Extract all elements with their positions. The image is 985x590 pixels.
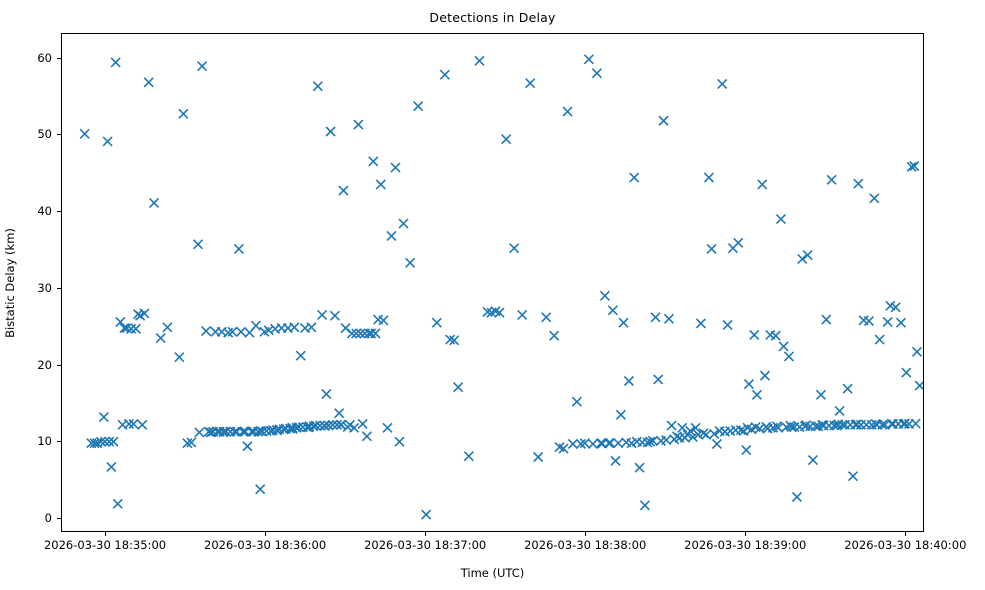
scatter-point bbox=[510, 244, 519, 253]
scatter-point bbox=[915, 381, 923, 390]
scatter-point bbox=[202, 327, 211, 336]
scatter-point bbox=[798, 254, 807, 263]
y-tick-label: 40 bbox=[0, 204, 52, 218]
x-tick-mark bbox=[585, 532, 586, 536]
scatter-point bbox=[608, 306, 617, 315]
scatter-point bbox=[611, 456, 620, 465]
scatter-point bbox=[129, 419, 138, 428]
scatter-point bbox=[379, 316, 388, 325]
scatter-point bbox=[354, 120, 363, 129]
scatter-point bbox=[422, 510, 431, 519]
scatter-point bbox=[864, 317, 873, 326]
scatter-point bbox=[464, 452, 473, 461]
scatter-point bbox=[568, 439, 577, 448]
scatter-point bbox=[750, 330, 759, 339]
scatter-point bbox=[326, 127, 335, 136]
scatter-point bbox=[350, 423, 359, 432]
x-tick-mark bbox=[905, 532, 906, 536]
scatter-point bbox=[848, 472, 857, 481]
scatter-point bbox=[651, 313, 660, 322]
scatter-point bbox=[827, 175, 836, 184]
scatter-point bbox=[113, 499, 122, 508]
scatter-point bbox=[179, 109, 188, 118]
scatter-point bbox=[896, 318, 905, 327]
scatter-point bbox=[358, 419, 367, 428]
scatter-point bbox=[803, 251, 812, 260]
scatter-point bbox=[156, 334, 165, 343]
y-tick-label: 20 bbox=[0, 358, 52, 372]
scatter-point bbox=[758, 180, 767, 189]
scatter-point bbox=[318, 310, 327, 319]
x-tick-label: 2026-03-30 18:39:00 bbox=[684, 538, 806, 552]
scatter-points-layer bbox=[62, 34, 923, 531]
scatter-point bbox=[678, 423, 687, 432]
scatter-point bbox=[518, 310, 527, 319]
scatter-point bbox=[475, 56, 484, 65]
scatter-point bbox=[251, 321, 260, 330]
scatter-point bbox=[912, 347, 921, 356]
scatter-point bbox=[744, 380, 753, 389]
scatter-point bbox=[659, 116, 668, 125]
x-tick-label: 2026-03-30 18:35:00 bbox=[44, 538, 166, 552]
scatter-point bbox=[131, 324, 140, 333]
y-tick-label: 60 bbox=[0, 51, 52, 65]
scatter-point bbox=[887, 419, 896, 428]
scatter-point bbox=[163, 323, 172, 332]
scatter-point bbox=[234, 244, 243, 253]
scatter-point bbox=[760, 371, 769, 380]
scatter-point bbox=[150, 198, 159, 207]
scatter-point bbox=[369, 157, 378, 166]
scatter-point bbox=[391, 163, 400, 172]
scatter-point bbox=[80, 129, 89, 138]
scatter-point bbox=[107, 462, 116, 471]
scatter-point bbox=[307, 323, 316, 332]
scatter-point bbox=[339, 186, 348, 195]
scatter-point bbox=[502, 135, 511, 144]
x-tick-label: 2026-03-30 18:38:00 bbox=[524, 538, 646, 552]
scatter-point bbox=[550, 331, 559, 340]
scatter-point bbox=[883, 317, 892, 326]
scatter-point bbox=[243, 442, 252, 451]
scatter-point bbox=[696, 319, 705, 328]
x-tick-mark bbox=[425, 532, 426, 536]
scatter-point bbox=[240, 427, 249, 436]
chart-title: Detections in Delay bbox=[0, 10, 985, 25]
scatter-point bbox=[843, 384, 852, 393]
y-axis-label: Bistatic Delay (km) bbox=[3, 228, 17, 338]
scatter-point bbox=[124, 419, 133, 428]
scatter-point bbox=[616, 410, 625, 419]
scatter-point bbox=[584, 55, 593, 64]
scatter-point bbox=[140, 309, 149, 318]
scatter-point bbox=[875, 335, 884, 344]
scatter-point bbox=[542, 313, 551, 322]
scatter-point bbox=[816, 390, 825, 399]
scatter-point bbox=[440, 70, 449, 79]
scatter-point bbox=[654, 375, 663, 384]
scatter-point bbox=[792, 492, 801, 501]
scatter-point bbox=[383, 423, 392, 432]
scatter-point bbox=[619, 318, 628, 327]
matplotlib-figure: Detections in Delay Bistatic Delay (km) … bbox=[0, 0, 985, 590]
scatter-point bbox=[723, 320, 732, 329]
scatter-point bbox=[454, 383, 463, 392]
scatter-point bbox=[606, 438, 615, 447]
scatter-point bbox=[335, 409, 344, 418]
scatter-point bbox=[704, 173, 713, 182]
scatter-point bbox=[808, 456, 817, 465]
scatter-point bbox=[399, 219, 408, 228]
scatter-point bbox=[322, 390, 331, 399]
scatter-point bbox=[563, 107, 572, 116]
scatter-point bbox=[395, 437, 404, 446]
scatter-point bbox=[175, 353, 184, 362]
scatter-point bbox=[296, 351, 305, 360]
scatter-point bbox=[111, 58, 120, 67]
scatter-point bbox=[198, 62, 207, 71]
scatter-point bbox=[779, 342, 788, 351]
plot-axes-frame bbox=[61, 33, 924, 532]
scatter-point bbox=[712, 439, 721, 448]
scatter-point bbox=[640, 501, 649, 510]
scatter-point bbox=[406, 258, 415, 267]
y-tick-label: 10 bbox=[0, 434, 52, 448]
scatter-point bbox=[237, 327, 246, 336]
scatter-point bbox=[376, 180, 385, 189]
x-tick-label: 2026-03-30 18:37:00 bbox=[364, 538, 486, 552]
x-tick-label: 2026-03-30 18:36:00 bbox=[204, 538, 326, 552]
scatter-point bbox=[138, 420, 147, 429]
scatter-point bbox=[776, 215, 785, 224]
scatter-point bbox=[195, 428, 204, 437]
scatter-point bbox=[911, 419, 920, 428]
scatter-point bbox=[707, 244, 716, 253]
scatter-point bbox=[630, 173, 639, 182]
scatter-point bbox=[600, 291, 609, 300]
plot-area bbox=[62, 34, 923, 531]
x-tick-mark bbox=[265, 532, 266, 536]
scatter-point bbox=[664, 314, 673, 323]
scatter-point bbox=[667, 421, 676, 430]
scatter-point bbox=[572, 397, 581, 406]
x-tick-mark bbox=[745, 532, 746, 536]
x-tick-mark bbox=[105, 532, 106, 536]
scatter-point bbox=[592, 69, 601, 78]
scatter-point bbox=[362, 432, 371, 441]
scatter-point bbox=[290, 323, 299, 332]
scatter-point bbox=[624, 376, 633, 385]
scatter-point bbox=[822, 315, 831, 324]
x-tick-label: 2026-03-30 18:40:00 bbox=[844, 538, 966, 552]
scatter-point bbox=[854, 179, 863, 188]
x-axis-label: Time (UTC) bbox=[0, 566, 985, 580]
scatter-point bbox=[742, 446, 751, 455]
scatter-point bbox=[635, 463, 644, 472]
scatter-point bbox=[718, 79, 727, 88]
scatter-point bbox=[835, 406, 844, 415]
scatter-point bbox=[387, 231, 396, 240]
scatter-point bbox=[534, 452, 543, 461]
scatter-point bbox=[414, 102, 423, 111]
scatter-point bbox=[432, 318, 441, 327]
scatter-point bbox=[771, 331, 780, 340]
scatter-point bbox=[144, 78, 153, 87]
scatter-point bbox=[256, 485, 265, 494]
scatter-point bbox=[313, 82, 322, 91]
scatter-point bbox=[526, 79, 535, 88]
scatter-point bbox=[194, 240, 203, 249]
scatter-point bbox=[734, 238, 743, 247]
y-tick-label: 50 bbox=[0, 127, 52, 141]
scatter-point bbox=[103, 137, 112, 146]
scatter-point bbox=[902, 368, 911, 377]
scatter-point bbox=[752, 390, 761, 399]
scatter-point bbox=[99, 413, 108, 422]
scatter-point bbox=[330, 311, 339, 320]
scatter-point bbox=[870, 194, 879, 203]
scatter-point bbox=[784, 352, 793, 361]
y-tick-label: 0 bbox=[0, 511, 52, 525]
